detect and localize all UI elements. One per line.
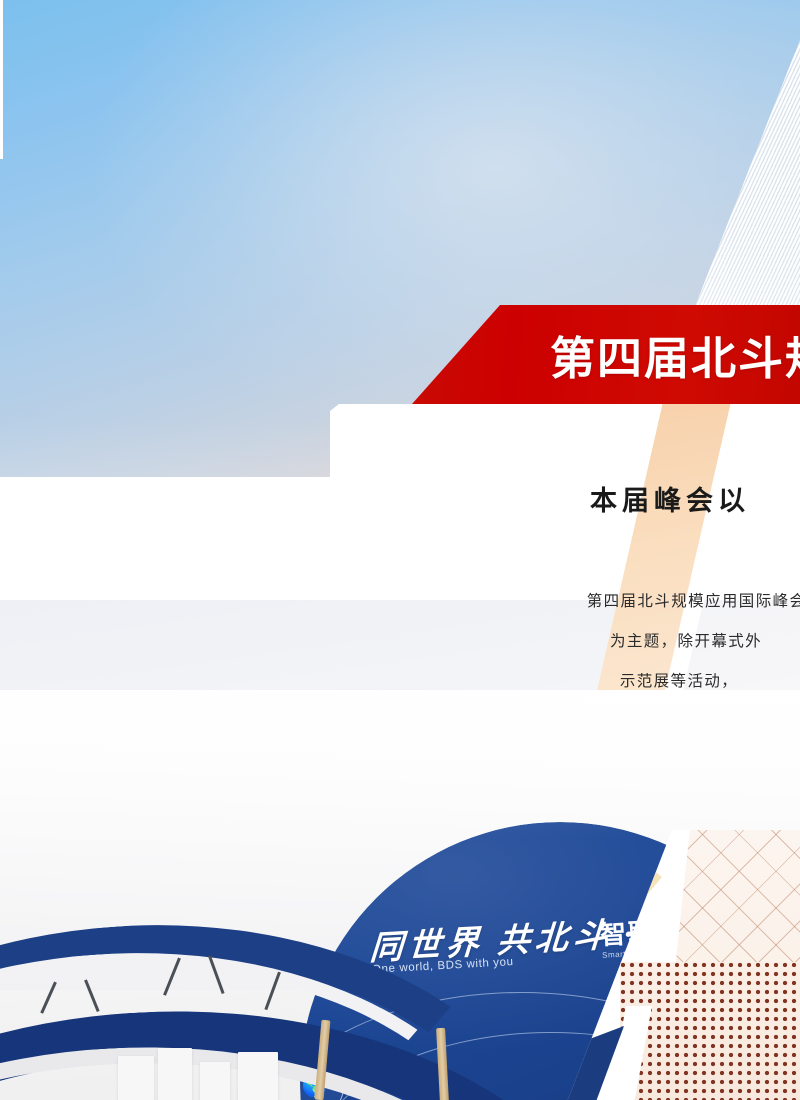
panel [238,1052,278,1100]
left-edge-white-notch [0,0,3,159]
card-paragraph: 第四届北斗规模应用国际峰会以 为主题，除开幕式外 示范展等活动， [330,582,800,702]
expo-hall-photo: 同世界 共北斗 · One world, BDS with you 智联时空 S… [0,690,800,1100]
panel [118,1056,154,1100]
panel [158,1048,192,1100]
card-headline: 本届峰会以 [590,479,750,518]
paragraph-line-2: 为主题，除开幕式外 [330,622,800,662]
paragraph-line-3: 示范展等活动， [330,662,800,702]
page-title: 第四届北斗规模应用国际峰会 [550,322,800,387]
poster-page: 第四届北斗规模应用国际峰会 本届峰会以 第四届北斗规模应用国际峰会以 为主题，除… [0,0,800,1100]
paragraph-line-1: 第四届北斗规模应用国际峰会以 [330,582,800,622]
panel [200,1062,230,1100]
card-headline-row: 本届峰会以 [330,470,800,526]
